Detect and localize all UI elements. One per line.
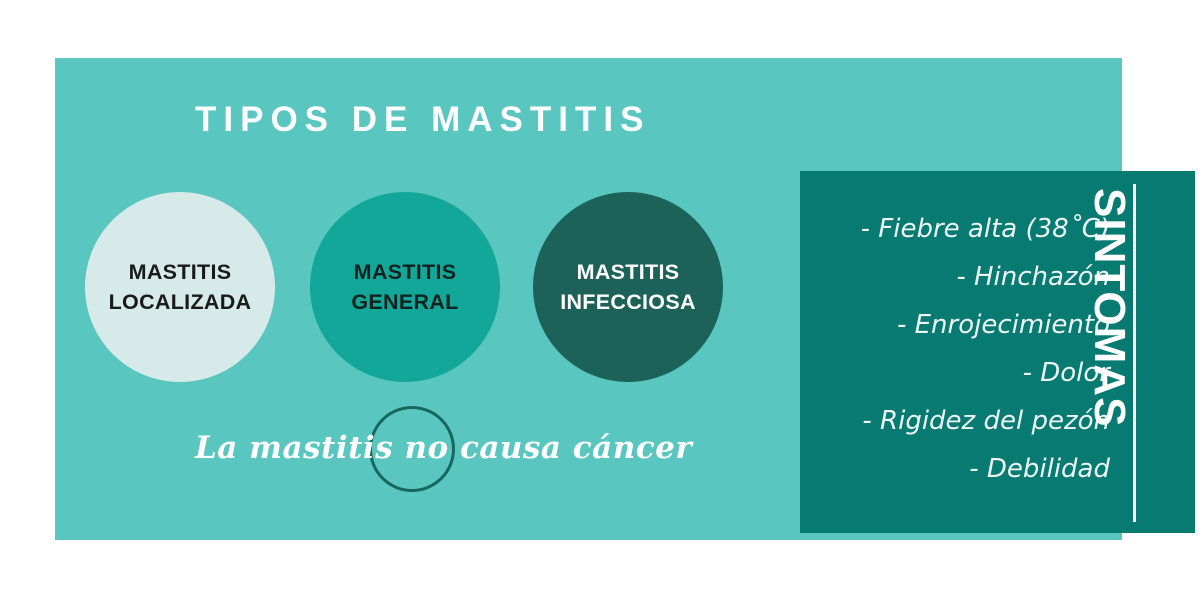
- list-item: - Fiebre alta (38˚C): [808, 205, 1110, 253]
- type-label-line1: MASTITIS: [129, 257, 232, 287]
- type-label-line2: INFECCIOSA: [560, 287, 696, 317]
- mastitis-type-circle-general: MASTITIS GENERAL: [310, 192, 500, 382]
- list-item: - Hinchazón: [808, 253, 1110, 301]
- symptoms-vertical-title: SINTOMAS: [1081, 184, 1137, 522]
- type-label-line2: GENERAL: [351, 287, 458, 317]
- page-title: TIPOS DE MASTITIS: [195, 100, 650, 140]
- type-label-line1: MASTITIS: [577, 257, 680, 287]
- type-label-line1: MASTITIS: [354, 257, 457, 287]
- infographic-panel: TIPOS DE MASTITIS MASTITIS LOCALIZADA MA…: [55, 58, 1122, 540]
- list-item: - Dolor: [808, 349, 1110, 397]
- symptoms-panel: - Fiebre alta (38˚C) - Hinchazón - Enroj…: [800, 171, 1195, 533]
- type-label-line2: LOCALIZADA: [109, 287, 252, 317]
- list-item: - Debilidad: [808, 445, 1110, 493]
- list-item: - Rigidez del pezón: [808, 397, 1110, 445]
- symptoms-list: - Fiebre alta (38˚C) - Hinchazón - Enroj…: [808, 205, 1110, 493]
- caption-text: La mastitis no causa cáncer: [195, 425, 615, 471]
- mastitis-type-circle-infecciosa: MASTITIS INFECCIOSA: [533, 192, 723, 382]
- list-item: - Enrojecimiento: [808, 301, 1110, 349]
- mastitis-type-circle-localizada: MASTITIS LOCALIZADA: [85, 192, 275, 382]
